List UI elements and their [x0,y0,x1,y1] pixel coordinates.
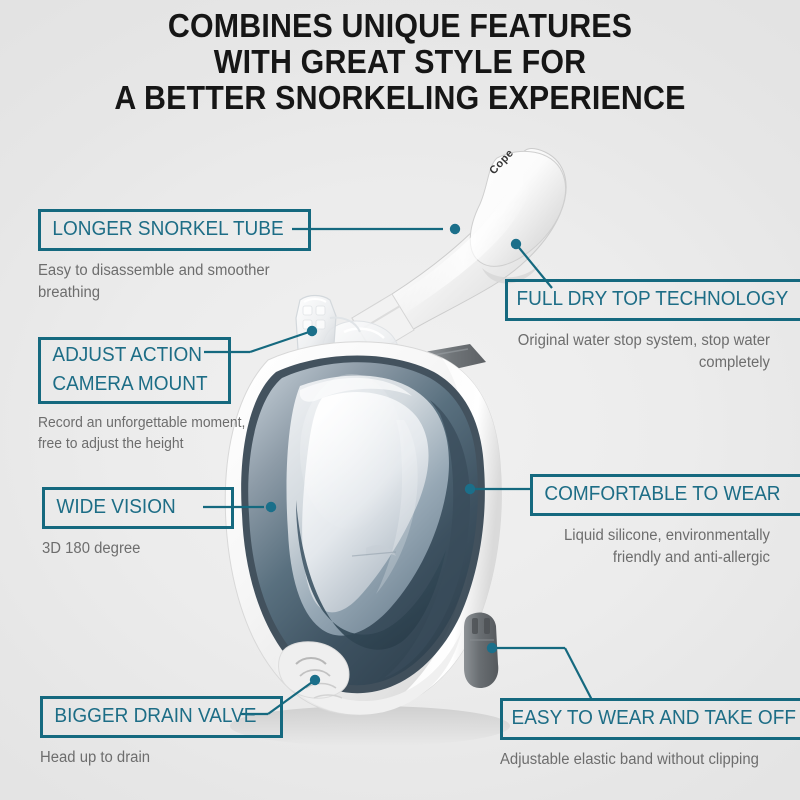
callout-sub-easy-to-wear: Adjustable elastic band without clipping [500,749,769,771]
callout-full-dry-top-technology[interactable]: FULL DRY TOP TECHNOLOGY Original water s… [505,279,775,374]
callout-sub-full-dry-top: Original water stop system, stop water c… [516,330,770,374]
callout-title-camera-mount-line-2: CAMERA MOUNT [41,372,219,401]
callout-adjust-action-camera-mount[interactable]: ADJUST ACTION CAMERA MOUNT Record an unf… [38,337,298,455]
callout-sub-wide-vision: 3D 180 degree [42,538,234,560]
callout-box-full-dry-top[interactable]: FULL DRY TOP TECHNOLOGY [505,279,800,321]
callout-title-camera-mount-line-1: ADJUST ACTION [41,340,219,372]
callout-comfortable-to-wear[interactable]: COMFORTABLE TO WEAR Liquid silicone, env… [530,474,780,569]
callout-title-comfortable-to-wear: COMFORTABLE TO WEAR [533,477,792,513]
callout-sub-drain-valve: Head up to drain [40,747,261,769]
callout-title-wide-vision: WIDE VISION [45,490,221,526]
callout-box-camera-mount[interactable]: ADJUST ACTION CAMERA MOUNT [38,337,231,404]
strap-buckle [464,613,498,689]
callout-box-wide-vision[interactable]: WIDE VISION [42,487,234,529]
callout-sub-comfortable-to-wear: Liquid silicone, environmentally friendl… [540,525,770,569]
infographic-canvas: COMBINES UNIQUE FEATURES WITH GREAT STYL… [0,0,800,800]
callout-title-drain-valve: BIGGER DRAIN VALVE [43,699,268,735]
callout-easy-to-wear-and-take-off[interactable]: EASY TO WEAR AND TAKE OFF Adjustable ela… [500,698,780,771]
callout-wide-vision[interactable]: WIDE VISION 3D 180 degree [42,487,272,560]
callout-box-comfortable-to-wear[interactable]: COMFORTABLE TO WEAR [530,474,800,516]
callout-box-drain-valve[interactable]: BIGGER DRAIN VALVE [40,696,283,738]
callout-box-easy-to-wear[interactable]: EASY TO WEAR AND TAKE OFF [500,698,800,740]
callout-title-full-dry-top: FULL DRY TOP TECHNOLOGY [508,282,797,318]
callout-title-easy-to-wear: EASY TO WEAR AND TAKE OFF [503,701,800,737]
callout-box-longer-snorkel-tube[interactable]: LONGER SNORKEL TUBE [38,209,311,251]
callout-sub-longer-snorkel-tube: Easy to disassemble and smoother breathi… [38,260,295,304]
callout-title-longer-snorkel-tube: LONGER SNORKEL TUBE [41,212,295,248]
callout-longer-snorkel-tube[interactable]: LONGER SNORKEL TUBE Easy to disassemble … [38,209,328,304]
callout-sub-camera-mount: Record an unforgettable moment, free to … [38,413,268,455]
callout-bigger-drain-valve[interactable]: BIGGER DRAIN VALVE Head up to drain [40,696,290,769]
